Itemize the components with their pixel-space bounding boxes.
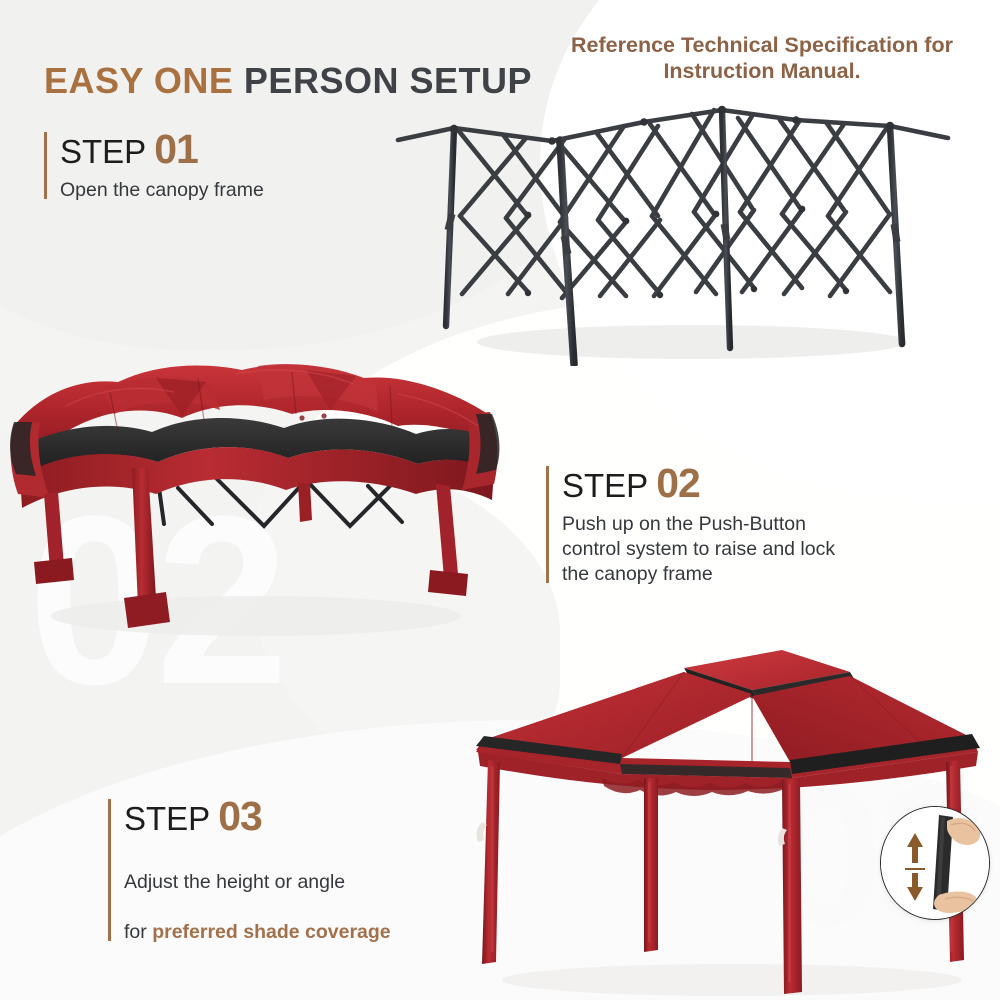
- height-adjust-detail-inset: [880, 806, 990, 920]
- page-title-accent: EASY ONE: [44, 60, 233, 101]
- step-label: STEP: [124, 800, 210, 837]
- step-label: STEP: [60, 133, 146, 170]
- step-number: 01: [154, 126, 198, 172]
- step-heading: STEP03: [124, 795, 391, 838]
- step-accent-rule: [44, 132, 47, 199]
- step-number: 03: [218, 793, 262, 839]
- page-title-plain: PERSON SETUP: [244, 60, 532, 101]
- infographic-canvas: 01 02 03: [0, 0, 1000, 1000]
- page-title: EASY ONE PERSON SETUP: [44, 60, 532, 102]
- canopy-frame-illustration: [392, 96, 952, 366]
- step-description-line1: Adjust the height or angle: [124, 871, 345, 893]
- step-description: Adjust the height or angle for preferred…: [124, 845, 391, 945]
- step-description-prefix: for: [124, 921, 152, 943]
- step-description-highlight: preferred shade coverage: [152, 921, 390, 943]
- step-description: Open the canopy frame: [60, 178, 264, 203]
- step-label: STEP: [562, 467, 648, 504]
- draped-canopy-photo: [6, 348, 506, 648]
- step-block-02: STEP02 Push up on the Push-Button contro…: [546, 462, 835, 587]
- step-description: Push up on the Push-Button control syste…: [562, 512, 835, 587]
- reference-note: Reference Technical Specification for In…: [552, 32, 972, 84]
- step-accent-rule: [108, 799, 111, 941]
- step-number: 02: [656, 460, 700, 506]
- step-block-01: STEP01 Open the canopy frame: [44, 128, 264, 203]
- step-heading: STEP01: [60, 128, 264, 171]
- step-accent-rule: [546, 466, 549, 583]
- step-block-03: STEP03 Adjust the height or angle for pr…: [108, 795, 391, 945]
- step-heading: STEP02: [562, 462, 835, 505]
